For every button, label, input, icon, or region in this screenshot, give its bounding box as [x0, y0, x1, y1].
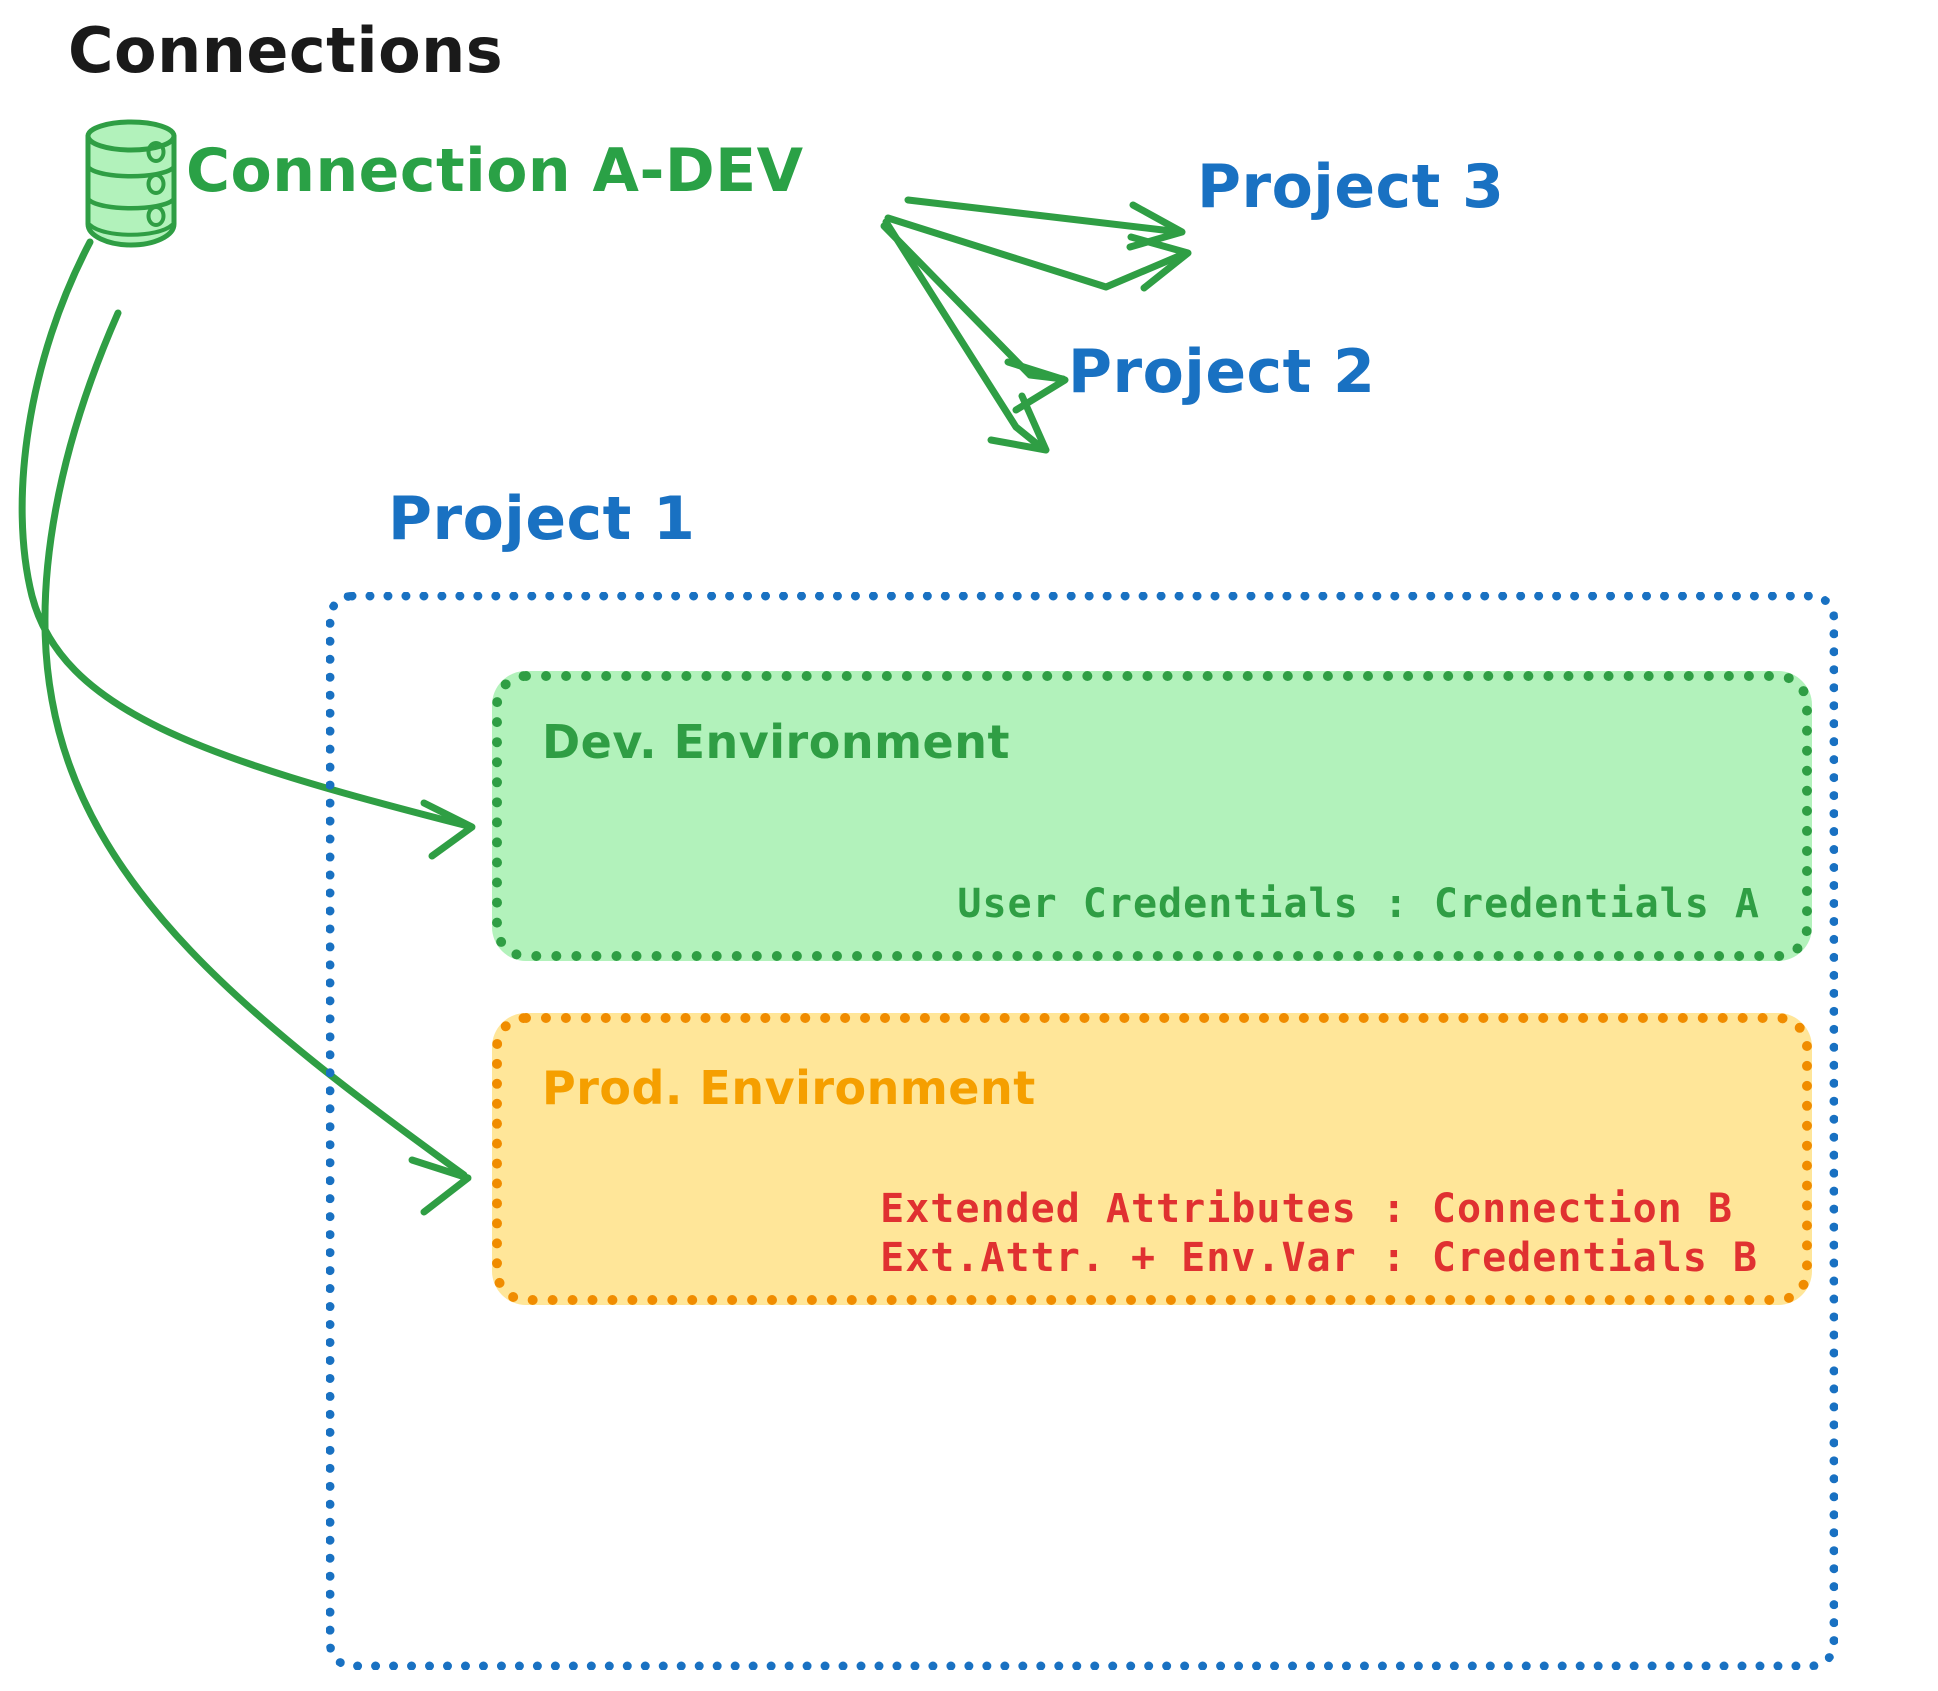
project-1-label: Project 1	[388, 484, 695, 554]
database-cylinder-icon	[88, 122, 174, 245]
edge-conn-to-project2-a	[886, 222, 1046, 450]
edge-conn-to-project3-a	[908, 200, 1182, 247]
dev-environment-title: Dev. Environment	[542, 715, 1010, 769]
edge-conn-to-project3-b	[888, 218, 1188, 288]
diagram-title: Connections	[68, 14, 503, 87]
dev-environment-box: Dev. Environment User Credentials : Cred…	[492, 671, 1812, 961]
prod-attribute-rows: Extended Attributes : Connection B Ext.A…	[880, 1185, 1758, 1283]
prod-ext-attr-env-var-row: Ext.Attr. + Env.Var : Credentials B	[880, 1234, 1758, 1283]
prod-environment-title: Prod. Environment	[542, 1061, 1036, 1115]
project-2-label: Project 2	[1068, 337, 1375, 407]
connection-a-dev-label: Connection A-DEV	[186, 136, 804, 206]
edge-conn-to-project2-b	[884, 226, 1065, 410]
dev-user-credentials-row: User Credentials : Credentials A	[957, 881, 1760, 927]
project-3-label: Project 3	[1197, 152, 1504, 222]
prod-environment-box: Prod. Environment Extended Attributes : …	[492, 1013, 1812, 1305]
diagram-canvas: Connections Connection A-DEV	[0, 0, 1938, 1691]
prod-extended-attributes-row: Extended Attributes : Connection B	[880, 1185, 1758, 1234]
